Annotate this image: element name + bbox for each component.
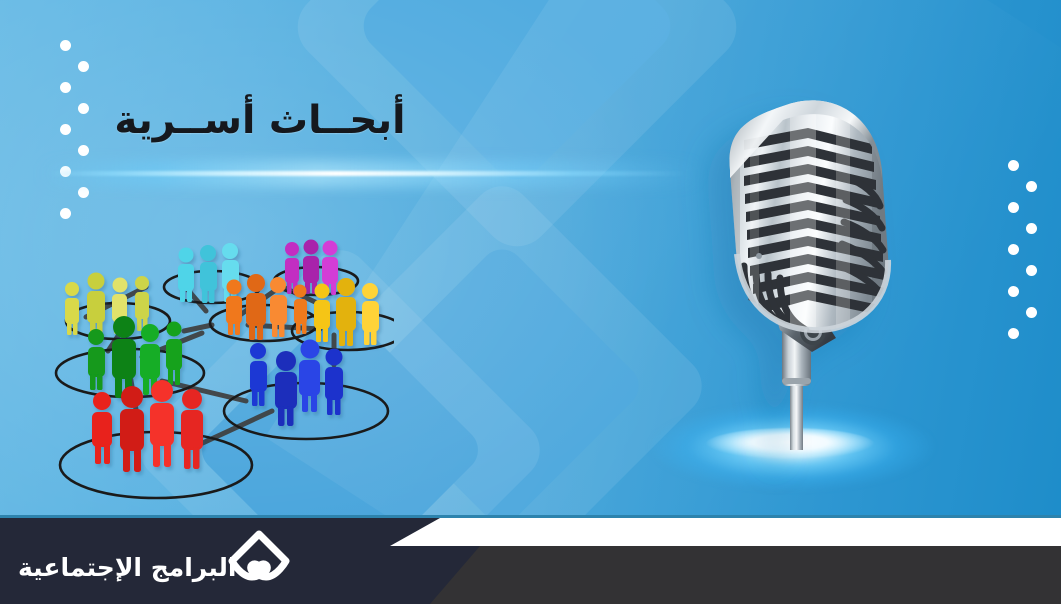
people-network-diagram: [34, 225, 394, 515]
retro-microphone: [640, 78, 940, 478]
footer-top-edge: [0, 515, 1061, 518]
footer-title: البرامج الإجتماعية: [18, 553, 236, 582]
banner-canvas: أبحــاث أســرية: [0, 0, 1061, 604]
heart-knot-logo: [228, 530, 290, 586]
decorative-dots-right: [1008, 160, 1048, 350]
page-title: أبحــاث أســرية: [0, 98, 520, 143]
